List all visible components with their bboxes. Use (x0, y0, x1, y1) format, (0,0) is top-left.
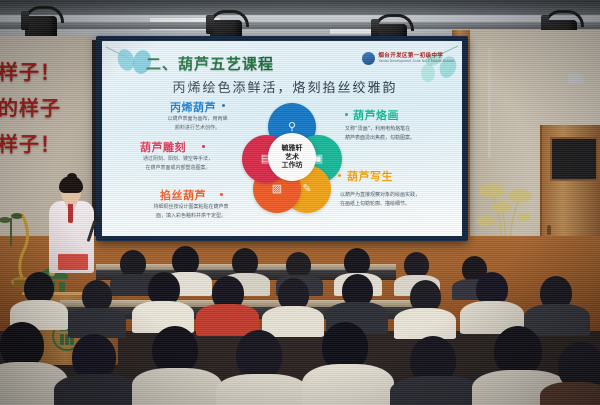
item-desc-sketch-l1: 以葫芦为直接观察对象的绘画实践， (340, 191, 458, 200)
projection-screen: 二、葫芦五艺课程 丙烯绘色添鲜活，烙刻掐丝绞雅韵 烟台开发区第一初级中学 Yan… (96, 36, 468, 241)
brush-icon: ⚲ (288, 122, 296, 133)
audience-head (232, 248, 258, 276)
wall-banner-line-1: 样子！ (0, 56, 74, 85)
school-logo: 烟台开发区第一初级中学 Yantai Development Zone No.1… (362, 52, 454, 65)
item-desc-acrylic-l1: 以葫芦表面为画布，用丙烯 (150, 115, 245, 124)
audience-shoulders (540, 382, 600, 405)
audience-shoulders (132, 368, 222, 405)
audience-head (172, 246, 199, 275)
bullet-dot-filigree (220, 193, 223, 196)
door-window (550, 137, 598, 181)
microphone-icon (94, 216, 100, 222)
school-name-en: Yantai Development Zone No.1 Middle Scho… (378, 60, 454, 63)
audience-shoulders (302, 364, 394, 405)
audience-shoulders (390, 376, 482, 405)
item-desc-acrylic-l2: 颜料进行艺术创作。 (150, 124, 245, 133)
item-label-pyrography: 葫芦烙画 (353, 107, 399, 123)
bullet-dot-sketch (338, 174, 341, 177)
item-desc-carving-l1: 通过阴刻、阳刻、镂空等手法， (122, 155, 234, 164)
item-desc-sketch-l2: 在画纸上勾勒轮廓、描绘细节。 (340, 200, 458, 209)
item-label-acrylic: 丙烯葫芦 (170, 99, 216, 115)
security-camera-icon (568, 74, 584, 84)
item-label-filigree: 掐丝葫芦 (160, 187, 206, 203)
item-desc-filigree-l1: 将细铜丝按设计图案粘贴在葫芦表 (130, 203, 252, 212)
slide-subtitle: 丙烯绘色添鲜活，烙刻掐丝绞雅韵 (160, 77, 410, 96)
workshop-hub: 毓雅轩 艺术 工作坊 (268, 133, 316, 181)
audience (0, 246, 600, 405)
podium-plant-icon (0, 196, 22, 246)
audience-shoulders (524, 304, 590, 336)
bullet-dot-pyrography (345, 113, 348, 116)
audience-shoulders (262, 306, 324, 337)
audience-shoulders (394, 308, 456, 339)
wall-banner-line-3: 样子！ (0, 128, 74, 157)
school-crest-icon (362, 52, 375, 65)
slide-title: 二、葫芦五艺课程 (146, 53, 274, 74)
auditorium-scene: 样子！ 的样子 样子！ (0, 0, 600, 405)
wall-pipe (488, 48, 491, 158)
audience-shoulders (216, 374, 308, 405)
presenter-hair-bun (67, 173, 77, 181)
lighting-truss (0, 22, 600, 29)
pencil-icon: ✎ (302, 184, 311, 195)
presenter-scarf (68, 203, 73, 223)
item-label-carving: 葫芦雕刻 (140, 139, 186, 155)
audience-shoulders (54, 374, 140, 405)
ceiling-dark-band (0, 0, 600, 15)
audience-head (236, 330, 282, 380)
wall-banner-line-2: 的样子 (0, 92, 74, 121)
hub-line-3: 工作坊 (282, 161, 303, 170)
item-desc-pyrography-l2: 葫芦表面烫出焦痕，勾勒图案。 (345, 134, 455, 143)
item-label-sketch: 葫芦写生 (347, 168, 393, 184)
wire-icon: ▨ (272, 184, 282, 195)
audience-head (344, 248, 370, 276)
item-desc-filigree-l2: 面，填入彩色釉料并烘干定型。 (130, 212, 252, 221)
audience-head (120, 250, 146, 277)
bullet-dot-acrylic (222, 104, 225, 107)
item-desc-carving-l2: 在葫芦表面或内部塑造图案。 (122, 164, 234, 173)
item-desc-pyrography-l1: 又称“烫画”，利用电热烙笔在 (345, 125, 455, 134)
hub-line-1: 毓雅轩 (282, 144, 303, 153)
audience-head (494, 326, 542, 376)
five-arts-diagram: ⚲ ▣ ✎ ▨ ▤ 毓雅轩 艺术 工作坊 (242, 103, 342, 213)
bullet-dot-carving (202, 145, 205, 148)
audience-head (152, 326, 198, 374)
door-knob[interactable] (547, 225, 551, 235)
presentation-slide: 二、葫芦五艺课程 丙烯绘色添鲜活，烙刻掐丝绞雅韵 烟台开发区第一初级中学 Yan… (102, 41, 462, 236)
